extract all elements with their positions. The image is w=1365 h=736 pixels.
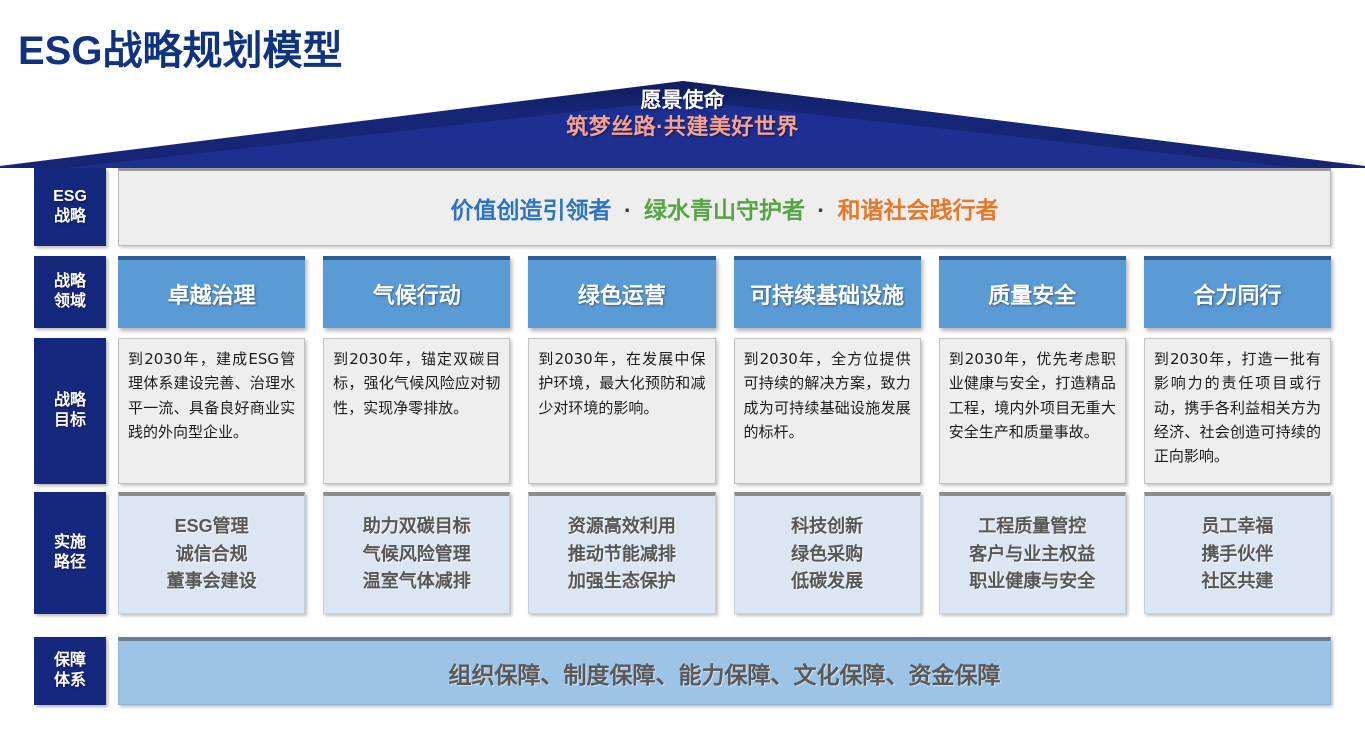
sidebar-tab-implementation-path-line1: 实施 — [54, 533, 86, 553]
row-strategy-domains: 战略 领域 卓越治理 气候行动 绿色运营 可持续基础设施 质量安全 合力同行 — [34, 256, 1331, 328]
spacer — [106, 168, 118, 246]
row-strategy-goals: 战略 目标 到2030年，建成ESG管理体系建设完善、治理水平一流、具备良好商业… — [34, 338, 1331, 484]
sidebar-tab-strategy-domain[interactable]: 战略 领域 — [34, 256, 106, 328]
strategy-domain-cards: 卓越治理 气候行动 绿色运营 可持续基础设施 质量安全 合力同行 — [118, 256, 1331, 328]
spacer — [1126, 338, 1144, 484]
goal-text: 到2030年，优先考虑职业健康与安全，打造精品工程，境内外项目无重大安全生产和质… — [949, 347, 1116, 444]
sidebar-tab-esg-strategy-line2: 战略 — [54, 207, 86, 227]
roof-banner — [0, 78, 1365, 168]
path-item: 推动节能减排 — [568, 541, 676, 569]
sidebar-tab-guarantee-system[interactable]: 保障 体系 — [34, 637, 106, 705]
spacer — [510, 492, 528, 614]
path-item: 气候风险管理 — [363, 541, 471, 569]
path-item: 职业健康与安全 — [969, 568, 1095, 596]
sidebar-tab-implementation-path-line2: 路径 — [54, 553, 86, 573]
sidebar-tab-guarantee-system-line1: 保障 — [54, 651, 86, 671]
sidebar-tab-strategy-goal[interactable]: 战略 目标 — [34, 338, 106, 484]
domain-card[interactable]: 卓越治理 — [118, 256, 305, 328]
spacer — [921, 256, 939, 328]
sidebar-tab-esg-strategy-line1: ESG — [53, 187, 87, 207]
path-card[interactable]: 资源高效利用 推动节能减排 加强生态保护 — [528, 492, 715, 614]
slogan-part-value-creation: 价值创造引领者 — [451, 197, 612, 223]
slogan-separator-1: · — [618, 197, 638, 223]
path-item: 社区共建 — [1201, 568, 1273, 596]
path-card[interactable]: 员工幸福 携手伙伴 社区共建 — [1144, 492, 1331, 614]
row-esg-strategy: ESG 战略 价值创造引领者 · 绿水青山守护者 · 和谐社会践行者 — [34, 168, 1331, 246]
domain-card[interactable]: 气候行动 — [323, 256, 510, 328]
path-item: 科技创新 — [791, 513, 863, 541]
spacer — [510, 338, 528, 484]
path-card[interactable]: 助力双碳目标 气候风险管理 温室气体减排 — [323, 492, 510, 614]
strategy-goal-cards: 到2030年，建成ESG管理体系建设完善、治理水平一流、具备良好商业实践的外向型… — [118, 338, 1331, 484]
spacer — [106, 637, 118, 705]
goal-text: 到2030年，建成ESG管理体系建设完善、治理水平一流、具备良好商业实践的外向型… — [128, 347, 295, 444]
path-item: 绿色采购 — [791, 541, 863, 569]
goal-text: 到2030年，打造一批有影响力的责任项目或行动，携手各利益相关方为经济、社会创造… — [1154, 347, 1321, 468]
sidebar-tab-strategy-goal-line2: 目标 — [54, 411, 86, 431]
goal-text: 到2030年，锚定双碳目标，强化气候风险应对韧性，实现净零排放。 — [333, 347, 500, 420]
row-implementation-path: 实施 路径 ESG管理 诚信合规 董事会建设 助力双碳目标 气候风险管理 温室气… — [34, 492, 1331, 614]
spacer — [106, 492, 118, 614]
spacer — [106, 338, 118, 484]
goal-text: 到2030年，全方位提供可持续的解决方案，致力成为可持续基础设施发展的标杆。 — [744, 347, 911, 444]
goal-card: 到2030年，建成ESG管理体系建设完善、治理水平一流、具备良好商业实践的外向型… — [118, 338, 305, 484]
spacer — [1126, 256, 1144, 328]
goal-card: 到2030年，优先考虑职业健康与安全，打造精品工程，境内外项目无重大安全生产和质… — [939, 338, 1126, 484]
spacer — [921, 338, 939, 484]
sidebar-tab-guarantee-system-line2: 体系 — [54, 671, 86, 691]
sidebar-tab-strategy-domain-line1: 战略 — [54, 272, 86, 292]
path-item: 低碳发展 — [791, 568, 863, 596]
domain-card[interactable]: 可持续基础设施 — [734, 256, 921, 328]
esg-slogan: 价值创造引领者 · 绿水青山守护者 · 和谐社会践行者 — [451, 191, 999, 225]
goal-text: 到2030年，在发展中保护环境，最大化预防和减少对环境的影响。 — [538, 347, 705, 420]
sidebar-tab-strategy-domain-line2: 领域 — [54, 292, 86, 312]
goal-card: 到2030年，锚定双碳目标，强化气候风险应对韧性，实现净零排放。 — [323, 338, 510, 484]
spacer — [921, 492, 939, 614]
slogan-part-green-guardian: 绿水青山守护者 — [644, 197, 805, 223]
spacer — [305, 492, 323, 614]
path-card[interactable]: 科技创新 绿色采购 低碳发展 — [734, 492, 921, 614]
guarantee-system-text: 组织保障、制度保障、能力保障、文化保障、资金保障 — [449, 656, 1001, 690]
path-item: 助力双碳目标 — [363, 513, 471, 541]
path-item: ESG管理 — [175, 513, 249, 541]
domain-card[interactable]: 绿色运营 — [528, 256, 715, 328]
sidebar-tab-implementation-path[interactable]: 实施 路径 — [34, 492, 106, 614]
path-card[interactable]: ESG管理 诚信合规 董事会建设 — [118, 492, 305, 614]
esg-strategy-banner: 价值创造引领者 · 绿水青山守护者 · 和谐社会践行者 — [118, 168, 1331, 246]
path-item: 加强生态保护 — [568, 568, 676, 596]
spacer — [106, 256, 118, 328]
sidebar-tab-strategy-goal-line1: 战略 — [54, 391, 86, 411]
spacer — [305, 338, 323, 484]
goal-card: 到2030年，打造一批有影响力的责任项目或行动，携手各利益相关方为经济、社会创造… — [1144, 338, 1331, 484]
domain-card[interactable]: 合力同行 — [1144, 256, 1331, 328]
guarantee-system-banner: 组织保障、制度保障、能力保障、文化保障、资金保障 — [118, 637, 1331, 705]
path-card[interactable]: 工程质量管控 客户与业主权益 职业健康与安全 — [939, 492, 1126, 614]
path-item: 工程质量管控 — [978, 513, 1086, 541]
goal-card: 到2030年，在发展中保护环境，最大化预防和减少对环境的影响。 — [528, 338, 715, 484]
spacer — [716, 338, 734, 484]
slogan-separator-2: · — [811, 197, 831, 223]
slogan-part-harmonious-society: 和谐社会践行者 — [837, 197, 998, 223]
sidebar-tab-esg-strategy[interactable]: ESG 战略 — [34, 168, 106, 246]
spacer — [716, 256, 734, 328]
domain-card[interactable]: 质量安全 — [939, 256, 1126, 328]
path-item: 温室气体减排 — [363, 568, 471, 596]
spacer — [305, 256, 323, 328]
path-item: 携手伙伴 — [1201, 541, 1273, 569]
spacer — [510, 256, 528, 328]
path-item: 资源高效利用 — [568, 513, 676, 541]
row-guarantee-system: 保障 体系 组织保障、制度保障、能力保障、文化保障、资金保障 — [34, 637, 1331, 705]
spacer — [716, 492, 734, 614]
path-item: 员工幸福 — [1201, 513, 1273, 541]
page-title: ESG战略规划模型 — [18, 18, 342, 76]
path-item: 客户与业主权益 — [969, 541, 1095, 569]
goal-card: 到2030年，全方位提供可持续的解决方案，致力成为可持续基础设施发展的标杆。 — [734, 338, 921, 484]
implementation-path-cards: ESG管理 诚信合规 董事会建设 助力双碳目标 气候风险管理 温室气体减排 资源… — [118, 492, 1331, 614]
roof-shape — [0, 78, 1365, 168]
spacer — [1126, 492, 1144, 614]
path-item: 董事会建设 — [167, 568, 257, 596]
path-item: 诚信合规 — [176, 541, 248, 569]
